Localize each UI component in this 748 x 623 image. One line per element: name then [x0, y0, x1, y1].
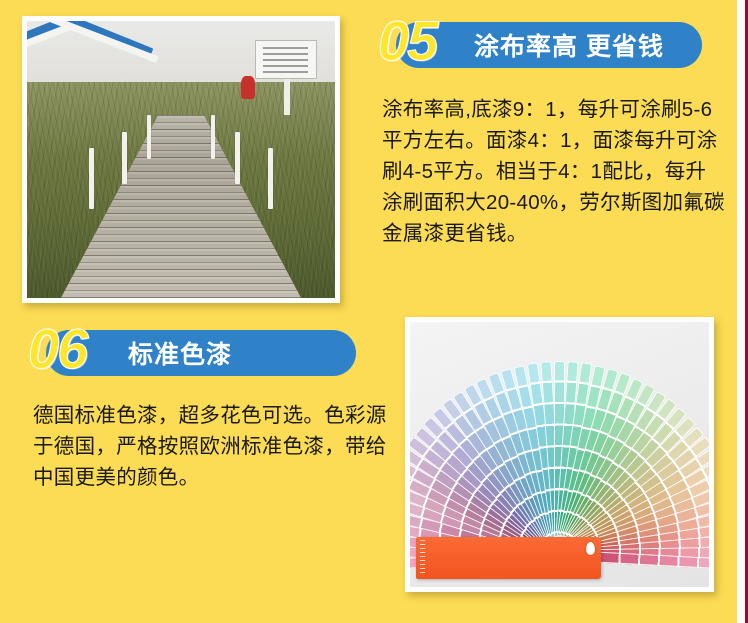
section-body-06: 德国标准色漆，超多花色可选。色彩源于德国，严格按照欧洲标准色漆，带给中国更美的颜…: [33, 400, 388, 493]
warning-sign: [255, 40, 317, 79]
color-fandeck-photo: [405, 317, 714, 592]
fandeck-base-card: [416, 537, 601, 579]
section-title: 标准色漆: [128, 330, 232, 376]
section-title: 涂布率高 更省钱: [474, 22, 664, 68]
rail-post: [235, 132, 240, 185]
rail-post: [147, 115, 151, 159]
section-number: 06: [28, 321, 86, 377]
section-number: 05: [378, 13, 436, 69]
section-header-06: 06 标准色漆: [28, 330, 356, 376]
section-header-05: 05 涂布率高 更省钱: [378, 22, 702, 68]
rail-post: [211, 115, 215, 159]
person-in-red: [241, 76, 255, 98]
base-card-label: [420, 540, 425, 576]
poster-page: 05 涂布率高 更省钱 涂布率高,底漆9：1，每升可涂刷5-6平方左右。面漆4：…: [0, 0, 748, 623]
rail-post: [122, 132, 127, 185]
section-body-05: 涂布率高,底漆9：1，每升可涂刷5-6平方左右。面漆4：1，面漆每升可涂刷4-5…: [382, 94, 727, 249]
right-gutter: [737, 0, 745, 623]
rail-post: [89, 148, 95, 209]
sign-post: [284, 79, 290, 115]
boardwalk-photo: [22, 16, 340, 303]
rail-post: [268, 148, 274, 209]
